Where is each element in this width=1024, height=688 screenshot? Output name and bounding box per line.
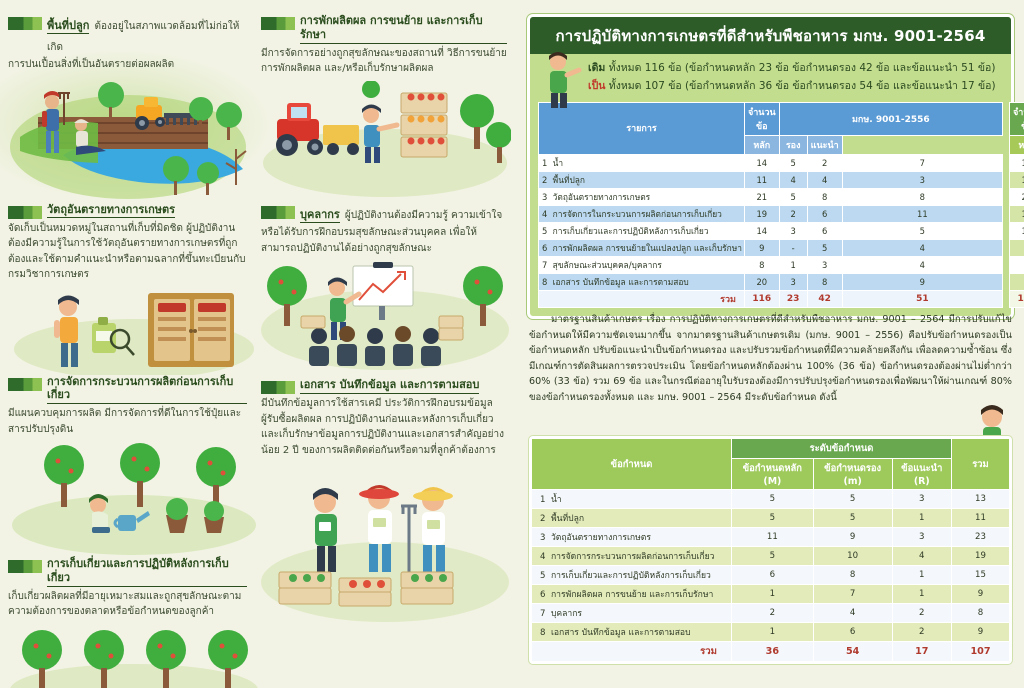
cell-secondary: 5 bbox=[813, 509, 892, 528]
total-main: 23 bbox=[779, 290, 807, 307]
row-label: น้ำ bbox=[553, 158, 563, 168]
cell-count: 8 bbox=[1010, 256, 1024, 273]
cell-count: 14 bbox=[744, 154, 779, 171]
cell-recommend: 4 bbox=[892, 547, 951, 566]
section-header: พื้นที่ปลูก ต้องอยู่ในสภาพแวดล้อมที่ไม่ก… bbox=[8, 14, 247, 55]
cell-secondary: 4 bbox=[813, 604, 892, 623]
cell-count: 23 bbox=[1010, 188, 1024, 205]
section-pre-harvest: การจัดการกระบวนการผลิตก่อนการเก็บเกี่ยว … bbox=[8, 375, 247, 438]
training-room-svg bbox=[261, 260, 511, 378]
orchard-row-svg bbox=[8, 624, 260, 688]
table-head: จำนวน ข้อ มกษ. 9001-2564 หลัก รอง แนะนำ bbox=[1010, 102, 1024, 154]
row-number: 5 bbox=[542, 226, 547, 236]
table-row: 9171 bbox=[1010, 239, 1024, 256]
table-head-row: ข้อกำหนด ระดับข้อกำหนด รวม bbox=[532, 439, 1010, 459]
section-resting-transport: การพักผลิตผล การขนย้าย และการเก็บรักษา ม… bbox=[261, 14, 507, 77]
cell-secondary: 6 bbox=[813, 623, 892, 642]
cell-count: 21 bbox=[744, 188, 779, 205]
col-recommend-line2: (R) bbox=[896, 476, 948, 487]
cell-main: 4 bbox=[779, 171, 807, 188]
cell-recommend: 9 bbox=[842, 273, 1002, 290]
cell-total: 13 bbox=[952, 490, 1010, 509]
cell-main: 3 bbox=[779, 222, 807, 239]
row-number: 7 bbox=[540, 609, 545, 619]
col-count-line1: จำนวน bbox=[748, 105, 776, 119]
illustration-team-produce bbox=[261, 462, 507, 622]
row-number: 3 bbox=[542, 192, 547, 202]
cell-main: 1 bbox=[732, 585, 814, 604]
row-label: บุคลากร bbox=[551, 609, 582, 619]
col-count: จำนวน ข้อ bbox=[744, 102, 779, 135]
table-row: 3 วัตถุอันตรายทางการเกษตร119323 bbox=[532, 528, 1010, 547]
total-secondary: 54 bbox=[813, 642, 892, 662]
cell-main: 2 bbox=[779, 205, 807, 222]
cell-total: 9 bbox=[952, 623, 1010, 642]
new-text: ทั้งหมด 107 ข้อ (ข้อกำหนดหลัก 36 ข้อ ข้อ… bbox=[609, 80, 996, 92]
group-2556: มกษ. 9001-2556 bbox=[779, 102, 1002, 135]
cell-secondary: 10 bbox=[813, 547, 892, 566]
swatch-icon bbox=[261, 17, 295, 30]
cell-recommend: 2 bbox=[892, 623, 951, 642]
total-all: 107 bbox=[952, 642, 1010, 662]
illustration-fertilizer-orchard bbox=[8, 441, 247, 557]
table-row: 8 เอกสาร บันทึกข้อมูล และการตามสอบ20389 bbox=[539, 273, 1003, 290]
total-main: 36 bbox=[732, 642, 814, 662]
table-row: 2 พื้นที่ปลูก11443 bbox=[539, 171, 1003, 188]
col-recommend-line1: ข้อแนะนำ bbox=[896, 461, 948, 476]
row-item: 1 น้ำ bbox=[532, 490, 732, 509]
table-row: 5 การเก็บเกี่ยวและการปฏิบัติหลังการเก็บเ… bbox=[532, 566, 1010, 585]
cell-recommend: 2 bbox=[892, 604, 951, 623]
table-row: 4 การจัดการในกระบวนการผลิตก่อนการเก็บเกี… bbox=[539, 205, 1003, 222]
cell-total: 19 bbox=[952, 547, 1010, 566]
table-head-row: จำนวน ข้อ มกษ. 9001-2564 bbox=[1010, 102, 1024, 135]
cell-main: 3 bbox=[779, 273, 807, 290]
col-main-line1: ข้อกำหนดหลัก bbox=[735, 461, 810, 476]
section-header: วัตถุอันตรายทางการเกษตร bbox=[8, 203, 247, 219]
presenter-figure-icon bbox=[538, 52, 584, 108]
right-column: การปฏิบัติทางการเกษตรที่ดีสำหรับพืชอาหาร… bbox=[515, 0, 1024, 688]
illustration-training-room bbox=[261, 260, 507, 378]
total-count: 107 bbox=[1010, 290, 1024, 307]
new-tag: เป็น bbox=[588, 80, 605, 92]
cell-secondary: 2 bbox=[807, 154, 842, 171]
col-main-line2: (M) bbox=[735, 476, 810, 487]
col-main: หลัก bbox=[744, 135, 779, 154]
cell-recommend: 11 bbox=[842, 205, 1002, 222]
col-count: จำนวน ข้อ bbox=[1010, 102, 1024, 135]
cell-total: 8 bbox=[952, 604, 1010, 623]
cell-recommend: 1 bbox=[892, 585, 951, 604]
table-row: 7 สุขลักษณะส่วนบุคคล/บุคลากร8134 bbox=[539, 256, 1003, 273]
col-secondary: รอง bbox=[779, 135, 807, 154]
subtitle-new-line: เป็น ทั้งหมด 107 ข้อ (ข้อกำหนดหลัก 36 ข้… bbox=[588, 78, 1001, 96]
table-row: 9162 bbox=[1010, 273, 1024, 290]
row-label: พื้นที่ปลูก bbox=[553, 175, 585, 185]
cell-secondary: 8 bbox=[813, 566, 892, 585]
cell-count: 8 bbox=[744, 256, 779, 273]
total-label: รวม bbox=[539, 290, 745, 307]
section-personnel: บุคลากร ผู้ปฏิบัติงานต้องมีความรู้ ความเ… bbox=[261, 203, 507, 257]
total-recommend: 17 bbox=[892, 642, 951, 662]
middle-column: การพักผลิตผล การขนย้าย และการเก็บรักษา ม… bbox=[255, 0, 515, 688]
cell-recommend: 3 bbox=[892, 528, 951, 547]
table-body: 1 น้ำ553132 พื้นที่ปลูก551113 วัตถุอันตร… bbox=[532, 490, 1010, 662]
cell-recommend: 4 bbox=[842, 239, 1002, 256]
row-number: 2 bbox=[540, 514, 545, 524]
farm-landscape-svg bbox=[8, 77, 260, 203]
cell-recommend: 4 bbox=[842, 256, 1002, 273]
row-number: 4 bbox=[540, 552, 545, 562]
cell-secondary: 8 bbox=[807, 273, 842, 290]
section-header: การจัดการกระบวนการผลิตก่อนการเก็บเกี่ยว bbox=[8, 375, 247, 405]
table-row: 7 บุคลากร2428 bbox=[532, 604, 1010, 623]
section-body: มีการจัดการอย่างถูกสุขลักษณะของสถานที่ ว… bbox=[261, 46, 507, 77]
table-mkos-2556: รายการ จำนวน ข้อ มกษ. 9001-2556 หลัก รอง… bbox=[538, 102, 1003, 308]
section-harvest: การเก็บเกี่ยวและการปฏิบัติหลังการเก็บเกี… bbox=[8, 557, 247, 620]
col-count-line2: ข้อ bbox=[1013, 119, 1024, 133]
swatch-icon bbox=[261, 381, 295, 394]
row-label: เอกสาร บันทึกข้อมูล และการตามสอบ bbox=[551, 628, 691, 638]
infographic-page: พื้นที่ปลูก ต้องอยู่ในสภาพแวดล้อมที่ไม่ก… bbox=[0, 0, 1024, 688]
table-row: 8 เอกสาร บันทึกข้อมูล และการตามสอบ1629 bbox=[532, 623, 1010, 642]
row-number: 8 bbox=[540, 628, 545, 638]
row-number: 1 bbox=[540, 495, 545, 505]
illustration-chemical-storage bbox=[8, 287, 247, 375]
row-label: การจัดการกระบวนการผลิตก่อนการเก็บเกี่ยว bbox=[551, 552, 715, 562]
row-number: 8 bbox=[542, 277, 547, 287]
section-title: พื้นที่ปลูก bbox=[47, 19, 89, 34]
row-item: 3 วัตถุอันตรายทางการเกษตร bbox=[532, 528, 732, 547]
section-title: เอกสาร บันทึกข้อมูล และการตามสอบ bbox=[300, 378, 479, 394]
cell-main: 5 bbox=[779, 188, 807, 205]
row-item: 8 เอกสาร บันทึกข้อมูล และการตามสอบ bbox=[539, 273, 745, 290]
row-item: 2 พื้นที่ปลูก bbox=[539, 171, 745, 188]
cell-count: 19 bbox=[744, 205, 779, 222]
old-text: ทั้งหมด 116 ข้อ (ข้อกำหนดหลัก 23 ข้อ ข้อ… bbox=[609, 62, 996, 74]
col-recommend: แนะนำ bbox=[807, 135, 842, 154]
col-requirement: ข้อกำหนด bbox=[532, 439, 732, 490]
table-head: ข้อกำหนด ระดับข้อกำหนด รวม ข้อกำหนดหลัก … bbox=[532, 439, 1010, 490]
col-count-line2: ข้อ bbox=[748, 119, 776, 133]
row-label: การเก็บเกี่ยวและการปฏิบัติหลังการเก็บเกี… bbox=[553, 226, 709, 236]
section-title: วัตถุอันตรายทางการเกษตร bbox=[47, 203, 175, 219]
cell-main: 1 bbox=[779, 256, 807, 273]
row-item: 7 สุขลักษณะส่วนบุคคล/บุคลากร bbox=[539, 256, 745, 273]
cell-secondary: 7 bbox=[813, 585, 892, 604]
table-row: 1 น้ำ14527 bbox=[539, 154, 1003, 171]
transport-svg bbox=[261, 81, 511, 203]
section-documents: เอกสาร บันทึกข้อมูล และการตามสอบ มีบันทึ… bbox=[261, 378, 507, 458]
cell-total: 11 bbox=[952, 509, 1010, 528]
cell-recommend: 5 bbox=[842, 222, 1002, 239]
section-title: การเก็บเกี่ยวและการปฏิบัติหลังการเก็บเกี… bbox=[47, 557, 247, 587]
cell-secondary: 6 bbox=[807, 222, 842, 239]
cell-count: 20 bbox=[744, 273, 779, 290]
row-item: 8 เอกสาร บันทึกข้อมูล และการตามสอบ bbox=[532, 623, 732, 642]
cell-main: 11 bbox=[732, 528, 814, 547]
cell-count: 9 bbox=[1010, 273, 1024, 290]
table-row: 11551 bbox=[1010, 171, 1024, 188]
section-body: มีแผนควบคุมการผลิต มีการจัดการที่ดีในการ… bbox=[8, 406, 247, 437]
row-label: น้ำ bbox=[551, 495, 562, 505]
cell-main: 2 bbox=[732, 604, 814, 623]
section-header: การพักผลิตผล การขนย้าย และการเก็บรักษา bbox=[261, 14, 507, 44]
cell-main: 5 bbox=[732, 547, 814, 566]
total-secondary: 42 bbox=[807, 290, 842, 307]
table-body: 1 น้ำ145272 พื้นที่ปลูก114433 วัตถุอันตร… bbox=[539, 154, 1003, 307]
section-hazardous-materials: วัตถุอันตรายทางการเกษตร จัดเก็บเป็นหมวดห… bbox=[8, 203, 247, 283]
swatch-icon bbox=[8, 378, 42, 391]
cell-count: 9 bbox=[744, 239, 779, 256]
cell-main: - bbox=[779, 239, 807, 256]
cell-main: 5 bbox=[732, 509, 814, 528]
total-label: รวม bbox=[532, 642, 732, 662]
cell-recommend: 1 bbox=[892, 566, 951, 585]
row-item: 2 พื้นที่ปลูก bbox=[532, 509, 732, 528]
row-label: การพักผลิตผล การขนย้าย และการเก็บรักษา bbox=[551, 590, 713, 600]
row-label: สุขลักษณะส่วนบุคคล/บุคลากร bbox=[553, 260, 662, 270]
section-body: เก็บเกี่ยวผลิตผลที่มีอายุเหมาะสมและถูกสุ… bbox=[8, 589, 247, 620]
col-count-line1: จำนวน bbox=[1013, 105, 1024, 119]
table-row: 5 การเก็บเกี่ยวและการปฏิบัติหลังการเก็บเ… bbox=[539, 222, 1003, 239]
section-header: บุคลากร ผู้ปฏิบัติงานต้องมีความรู้ ความเ… bbox=[261, 203, 507, 224]
illustration-transport bbox=[261, 81, 507, 203]
row-label: การเก็บเกี่ยวและการปฏิบัติหลังการเก็บเกี… bbox=[551, 571, 711, 581]
cell-total: 23 bbox=[952, 528, 1010, 547]
section-header: การเก็บเกี่ยวและการปฏิบัติหลังการเก็บเกี… bbox=[8, 557, 247, 587]
section-title: บุคลากร bbox=[300, 208, 340, 223]
col-main: หลัก bbox=[1010, 135, 1024, 154]
explanatory-paragraph: มาตรฐานสินค้าเกษตร เรื่อง การปฏิบัติทางก… bbox=[529, 312, 1012, 405]
swatch-icon bbox=[8, 206, 42, 219]
row-number: 4 bbox=[542, 209, 547, 219]
row-number: 3 bbox=[540, 533, 545, 543]
total-recommend: 51 bbox=[842, 290, 1002, 307]
row-item: 6 การพักผลิตผล การขนย้าย และการเก็บรักษา bbox=[532, 585, 732, 604]
col-secondary-line2: (m) bbox=[817, 476, 889, 487]
row-number: 7 bbox=[542, 260, 547, 270]
table-subhead-row: หลัก รอง แนะนำ bbox=[1010, 135, 1024, 154]
table-row: 4 การจัดการกระบวนการผลิตก่อนการเก็บเกี่ย… bbox=[532, 547, 1010, 566]
table-total-row: รวม116234251 bbox=[539, 290, 1003, 307]
row-number: 6 bbox=[542, 243, 547, 253]
section-body: การปนเปื้อนสิ่งที่เป็นอันตรายต่อผลผลิต bbox=[8, 57, 247, 73]
cell-secondary: 8 bbox=[807, 188, 842, 205]
table-row: 1 น้ำ55313 bbox=[532, 490, 1010, 509]
cell-count: 13 bbox=[1010, 154, 1024, 171]
cell-main: 5 bbox=[732, 490, 814, 509]
group-level: ระดับข้อกำหนด bbox=[732, 439, 952, 459]
section-planting-area: พื้นที่ปลูก ต้องอยู่ในสภาพแวดล้อมที่ไม่ก… bbox=[8, 14, 247, 73]
row-number: 1 bbox=[542, 158, 547, 168]
row-label: การพักผลิตผล การขนย้ายในแปลงปลูก และเก็บ… bbox=[553, 243, 742, 253]
table-row: 3 วัตถุอันตรายทางการเกษตร21588 bbox=[539, 188, 1003, 205]
cell-main: 1 bbox=[732, 623, 814, 642]
table-row: 13553 bbox=[1010, 154, 1024, 171]
table-requirement-levels: ข้อกำหนด ระดับข้อกำหนด รวม ข้อกำหนดหลัก … bbox=[531, 438, 1010, 662]
row-item: 4 การจัดการกระบวนการผลิตก่อนการเก็บเกี่ย… bbox=[532, 547, 732, 566]
cell-secondary: 9 bbox=[813, 528, 892, 547]
cell-recommend: 8 bbox=[842, 188, 1002, 205]
subtitle-old-line: เดิม ทั้งหมด 116 ข้อ (ข้อกำหนดหลัก 23 ข้… bbox=[588, 60, 1001, 78]
row-item: 3 วัตถุอันตรายทางการเกษตร bbox=[539, 188, 745, 205]
requirement-level-panel: ข้อกำหนด ระดับข้อกำหนด รวม ข้อกำหนดหลัก … bbox=[529, 436, 1012, 664]
section-title: การจัดการกระบวนการผลิตก่อนการเก็บเกี่ยว bbox=[47, 375, 247, 405]
table-row: 231193 bbox=[1010, 188, 1024, 205]
table-row: 6 การพักผลิตผล การขนย้าย และการเก็บรักษา… bbox=[532, 585, 1010, 604]
section-body-inline: ผู้ปฏิบัติงานต้องมีความรู้ ความเข้าใจ bbox=[345, 210, 502, 221]
cell-total: 9 bbox=[952, 585, 1010, 604]
cell-count: 14 bbox=[744, 222, 779, 239]
row-number: 2 bbox=[542, 175, 547, 185]
section-title: การพักผลิตผล การขนย้าย และการเก็บรักษา bbox=[300, 14, 507, 44]
standard-summary-panel: การปฏิบัติทางการเกษตรที่ดีสำหรับพืชอาหาร… bbox=[527, 14, 1014, 319]
swatch-icon bbox=[8, 17, 42, 30]
cell-secondary: 3 bbox=[807, 256, 842, 273]
cell-count: 15 bbox=[1010, 222, 1024, 239]
table-row: 8242 bbox=[1010, 256, 1024, 273]
row-item: 4 การจัดการในกระบวนการผลิตก่อนการเก็บเกี… bbox=[539, 205, 745, 222]
team-produce-svg bbox=[261, 462, 511, 622]
swatch-icon bbox=[261, 206, 295, 219]
fertilizer-orchard-svg bbox=[8, 441, 260, 557]
cell-recommend: 3 bbox=[842, 171, 1002, 188]
row-item: 1 น้ำ bbox=[539, 154, 745, 171]
table-body: 1355311551231193195104156819171824291621… bbox=[1010, 154, 1024, 307]
cell-secondary: 6 bbox=[807, 205, 842, 222]
cell-secondary: 5 bbox=[813, 490, 892, 509]
row-label: เอกสาร บันทึกข้อมูล และการตามสอบ bbox=[553, 277, 689, 287]
table-total-row: 107365417 bbox=[1010, 290, 1024, 307]
row-number: 5 bbox=[540, 571, 545, 581]
row-item: 6 การพักผลิตผล การขนย้ายในแปลงปลูก และเก… bbox=[539, 239, 745, 256]
row-number: 6 bbox=[540, 590, 545, 600]
cell-main: 6 bbox=[732, 566, 814, 585]
cell-count: 19 bbox=[1010, 205, 1024, 222]
cell-recommend: 7 bbox=[842, 154, 1002, 171]
table-mkos-2564: จำนวน ข้อ มกษ. 9001-2564 หลัก รอง แนะนำ … bbox=[1009, 102, 1024, 308]
illustration-orchard-row bbox=[8, 624, 247, 688]
panel-title: การปฏิบัติทางการเกษตรที่ดีสำหรับพืชอาหาร… bbox=[530, 17, 1011, 54]
total-count: 116 bbox=[744, 290, 779, 307]
cell-recommend: 3 bbox=[892, 490, 951, 509]
col-main-requirement: ข้อกำหนดหลัก (M) bbox=[732, 459, 814, 490]
cell-count: 11 bbox=[744, 171, 779, 188]
section-body: จัดเก็บเป็นหมวดหมู่ในสถานที่เก็บที่มิดชิ… bbox=[8, 221, 247, 283]
table-row: 6 การพักผลิตผล การขนย้ายในแปลงปลูก และเก… bbox=[539, 239, 1003, 256]
row-label: วัตถุอันตรายทางการเกษตร bbox=[553, 192, 651, 202]
col-total: รวม bbox=[952, 439, 1010, 490]
col-recommend-requirement: ข้อแนะนำ (R) bbox=[892, 459, 951, 490]
cell-secondary: 5 bbox=[807, 239, 842, 256]
row-item: 5 การเก็บเกี่ยวและการปฏิบัติหลังการเก็บเ… bbox=[539, 222, 745, 239]
cell-secondary: 4 bbox=[807, 171, 842, 188]
cell-recommend: 1 bbox=[892, 509, 951, 528]
table-total-row: รวม365417107 bbox=[532, 642, 1010, 662]
col-secondary-line1: ข้อกำหนดรอง bbox=[817, 461, 889, 476]
section-body: มีบันทึกข้อมูลการใช้สารเคมี ประวัติการฝึ… bbox=[261, 396, 507, 458]
swatch-icon bbox=[8, 560, 42, 573]
section-header: เอกสาร บันทึกข้อมูล และการตามสอบ bbox=[261, 378, 507, 394]
table-row: 2 พื้นที่ปลูก55111 bbox=[532, 509, 1010, 528]
cell-main: 5 bbox=[779, 154, 807, 171]
row-label: พื้นที่ปลูก bbox=[551, 514, 584, 524]
cell-count: 9 bbox=[1010, 239, 1024, 256]
table-head: รายการ จำนวน ข้อ มกษ. 9001-2556 หลัก รอง… bbox=[539, 102, 1003, 154]
section-body: หรือได้รับการฝึกอบรมสุขลักษณะส่วนบุคคล เ… bbox=[261, 225, 507, 256]
table-row: 15681 bbox=[1010, 222, 1024, 239]
old-tag: เดิม bbox=[588, 62, 605, 74]
cell-total: 15 bbox=[952, 566, 1010, 585]
chemical-storage-svg bbox=[8, 287, 260, 375]
row-label: วัตถุอันตรายทางการเกษตร bbox=[551, 533, 651, 543]
col-item: รายการ bbox=[539, 102, 745, 154]
col-secondary-requirement: ข้อกำหนดรอง (m) bbox=[813, 459, 892, 490]
table-row: 195104 bbox=[1010, 205, 1024, 222]
panel-subtitle: เดิม ทั้งหมด 116 ข้อ (ข้อกำหนดหลัก 23 ข้… bbox=[530, 54, 1011, 102]
left-column: พื้นที่ปลูก ต้องอยู่ในสภาพแวดล้อมที่ไม่ก… bbox=[0, 0, 255, 688]
table-head-row: รายการ จำนวน ข้อ มกษ. 9001-2556 bbox=[539, 102, 1003, 135]
row-item: 7 บุคลากร bbox=[532, 604, 732, 623]
row-label: การจัดการในกระบวนการผลิตก่อนการเก็บเกี่ย… bbox=[553, 209, 722, 219]
cell-count: 11 bbox=[1010, 171, 1024, 188]
comparison-tables: รายการ จำนวน ข้อ มกษ. 9001-2556 หลัก รอง… bbox=[530, 102, 1011, 308]
row-item: 5 การเก็บเกี่ยวและการปฏิบัติหลังการเก็บเ… bbox=[532, 566, 732, 585]
illustration-farm-landscape bbox=[8, 77, 247, 203]
